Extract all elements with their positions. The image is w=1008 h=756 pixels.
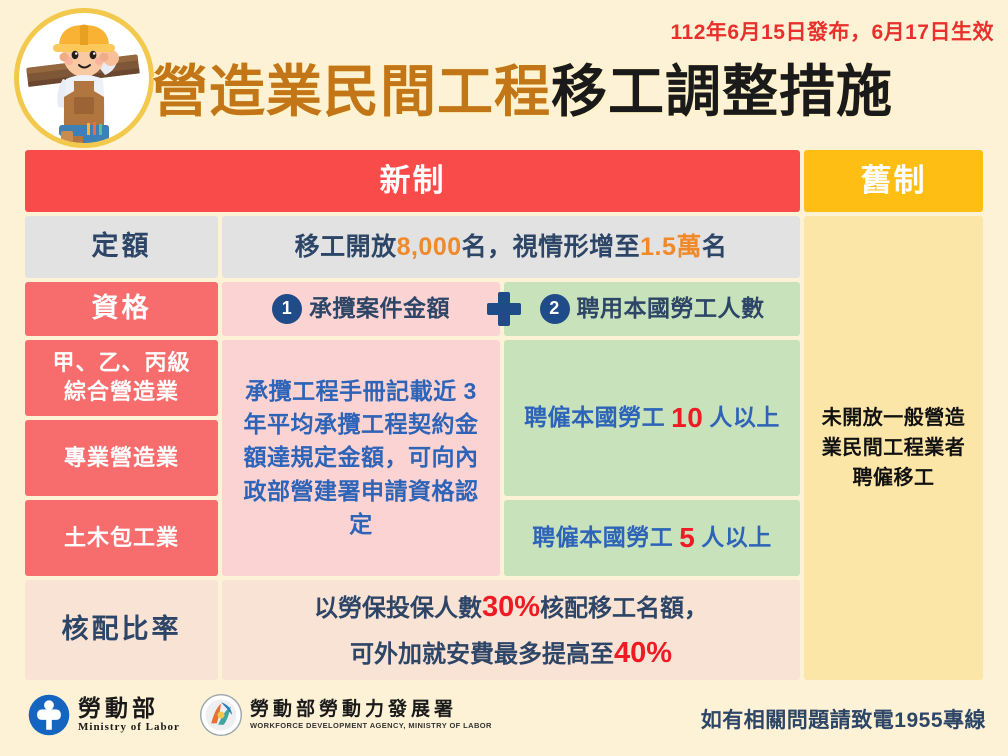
wda-logo-group: 勞動部勞動力發展署 WORKFORCE DEVELOPMENT AGENCY, …	[200, 694, 492, 736]
wda-en: WORKFORCE DEVELOPMENT AGENCY, MINISTRY O…	[250, 721, 492, 730]
allocation-percent-30: 30%	[482, 591, 540, 623]
title-part-1: 營造業民間工程	[152, 60, 551, 123]
wda-text: 勞動部勞動力發展署 WORKFORCE DEVELOPMENT AGENCY, …	[250, 700, 492, 730]
allocation-line-2-pre: 可外加就安費最多提高至	[350, 641, 614, 668]
allocation-line-1-post: 核配移工名額，	[540, 595, 708, 622]
ministry-of-labor-en: Ministry of Labor	[78, 721, 180, 733]
workforce-development-agency-logo-icon	[200, 694, 242, 736]
general-construction-line-1: 甲、乙、丙級	[52, 349, 190, 378]
qualification-criterion-2: 2聘用本國勞工人數	[504, 282, 800, 336]
qualification-criterion-1: 1承攬案件金額	[222, 282, 500, 336]
old-system-body: 未開放一般營造業民間工程業者聘僱移工	[804, 216, 983, 680]
local-worker-10-pre: 聘僱本國勞工	[524, 403, 665, 433]
ministry-of-labor-logo-icon	[28, 694, 70, 736]
contract-amount-requirement: 承攬工程手冊記載近 3 年平均承攬工程契約金額達規定金額，可向內政部營建署申請資…	[222, 340, 500, 576]
local-worker-10-post: 人以上	[709, 403, 780, 433]
row-body-quota: 移工開放8,000名，視情形增至1.5萬名	[222, 216, 800, 278]
plus-sign-icon	[487, 292, 521, 326]
ministry-of-labor-text: 勞動部 Ministry of Labor	[78, 697, 180, 733]
criterion-2-label: 聘用本國勞工人數	[577, 294, 765, 324]
title-part-2: 移工調整措施	[551, 60, 893, 123]
column-header-new-system: 新制	[25, 150, 800, 212]
construction-worker-illustration	[14, 8, 154, 148]
row-label-allocation-ratio: 核配比率	[25, 580, 218, 680]
main-title: 營造業民間工程移工調整措施	[152, 56, 998, 128]
agency-logos: 勞動部 Ministry of Labor 勞動部勞動力發展署 WORKFORC…	[28, 694, 492, 736]
badge-number-1-icon: 1	[272, 294, 302, 324]
local-worker-5-pre: 聘僱本國勞工	[532, 523, 673, 553]
row-label-civil-contractor: 土木包工業	[25, 500, 218, 576]
comparison-table: 新制 舊制 未開放一般營造業民間工程業者聘僱移工 定額 移工開放8,000名，視…	[25, 150, 983, 680]
ministry-of-labor-cn: 勞動部	[78, 697, 180, 721]
publish-date-notice: 112年6月15日發布，6月17日生效	[671, 16, 994, 46]
local-worker-5-number: 5	[673, 520, 701, 556]
infographic-page: 112年6月15日發布，6月17日生效	[0, 0, 1008, 756]
local-worker-5-post: 人以上	[701, 523, 772, 553]
allocation-percent-40: 40%	[614, 637, 672, 669]
allocation-line-2: 可外加就安費最多提高至40%	[314, 630, 708, 676]
local-worker-10-number: 10	[665, 400, 709, 436]
local-worker-requirement-10: 聘僱本國勞工10人以上	[504, 340, 800, 496]
row-label-specialty-construction: 專業營造業	[25, 420, 218, 496]
general-construction-line-2: 綜合營造業	[52, 378, 190, 407]
quota-number-1: 8,000	[397, 231, 462, 264]
local-worker-requirement-5: 聘僱本國勞工5人以上	[504, 500, 800, 576]
row-label-quota: 定額	[25, 216, 218, 278]
badge-number-2-icon: 2	[540, 294, 570, 324]
footer: 勞動部 Ministry of Labor 勞動部勞動力發展署 WORKFORC…	[0, 684, 1008, 756]
quota-number-2: 1.5萬	[640, 231, 702, 264]
header: 112年6月15日發布，6月17日生效	[0, 0, 1008, 145]
allocation-line-1: 以勞保投保人數30%核配移工名額，	[314, 584, 708, 630]
row-label-qualification: 資格	[25, 282, 218, 336]
column-header-old-system: 舊制	[804, 150, 983, 212]
quota-text-pre: 移工開放	[295, 231, 397, 264]
criterion-1-label: 承攬案件金額	[309, 294, 450, 324]
hotline-notice: 如有相關問題請致電1955專線	[701, 704, 986, 734]
quota-text-mid: 名，視情形增至	[462, 231, 641, 264]
allocation-line-1-pre: 以勞保投保人數	[314, 595, 482, 622]
quota-text-post: 名	[702, 231, 728, 264]
wda-cn: 勞動部勞動力發展署	[250, 700, 492, 721]
worker-icon	[19, 13, 149, 143]
row-body-allocation-ratio: 以勞保投保人數30%核配移工名額， 可外加就安費最多提高至40%	[222, 580, 800, 680]
row-label-general-construction: 甲、乙、丙級 綜合營造業	[25, 340, 218, 416]
